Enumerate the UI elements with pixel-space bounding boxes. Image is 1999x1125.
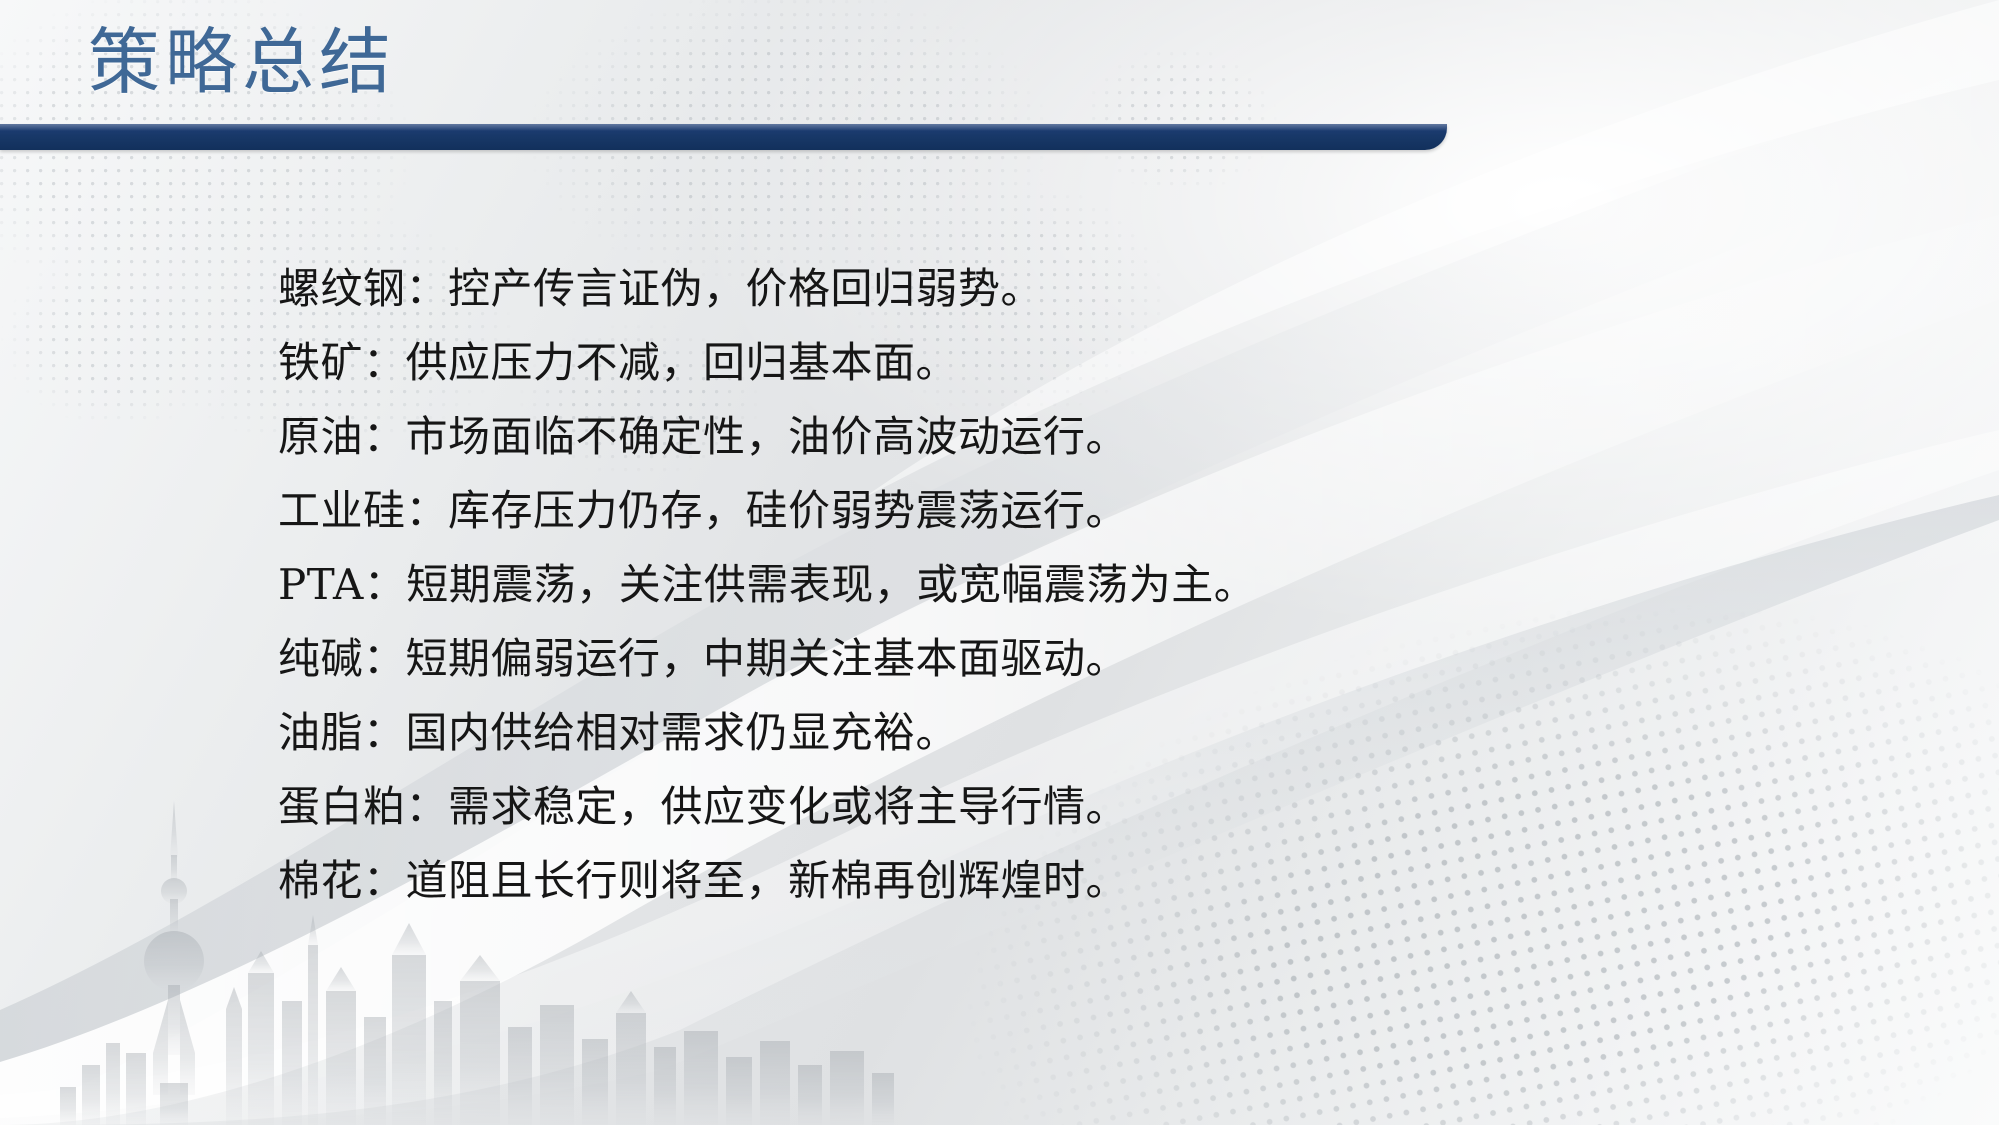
list-item: 工业硅：库存压力仍存，硅价弱势震荡运行。 bbox=[278, 490, 1818, 532]
list-item: 蛋白粕：需求稳定，供应变化或将主导行情。 bbox=[278, 786, 1818, 828]
accent-bar-fill bbox=[0, 124, 1447, 150]
summary-list: 螺纹钢：控产传言证伪，价格回归弱势。 铁矿：供应压力不减，回归基本面。 原油：市… bbox=[278, 268, 1818, 902]
presentation-slide: 策略总结 螺纹钢：控产传言证伪，价格回归弱势。 铁矿：供应压力不减，回归基本面。… bbox=[0, 0, 1999, 1125]
title-accent-bar bbox=[0, 124, 1447, 154]
list-item: 螺纹钢：控产传言证伪，价格回归弱势。 bbox=[278, 268, 1818, 310]
list-item: 棉花：道阻且长行则将至，新棉再创辉煌时。 bbox=[278, 860, 1818, 902]
list-item: PTA：短期震荡，关注供需表现，或宽幅震荡为主。 bbox=[278, 564, 1818, 606]
list-item: 原油：市场面临不确定性，油价高波动运行。 bbox=[278, 416, 1818, 458]
slide-header: 策略总结 bbox=[0, 0, 1999, 175]
list-item: 油脂：国内供给相对需求仍显充裕。 bbox=[278, 712, 1818, 754]
accent-bar-gloss bbox=[0, 124, 1447, 131]
list-item: 纯碱：短期偏弱运行，中期关注基本面驱动。 bbox=[278, 638, 1818, 680]
page-title: 策略总结 bbox=[88, 24, 396, 102]
list-item: 铁矿：供应压力不减，回归基本面。 bbox=[278, 342, 1818, 384]
